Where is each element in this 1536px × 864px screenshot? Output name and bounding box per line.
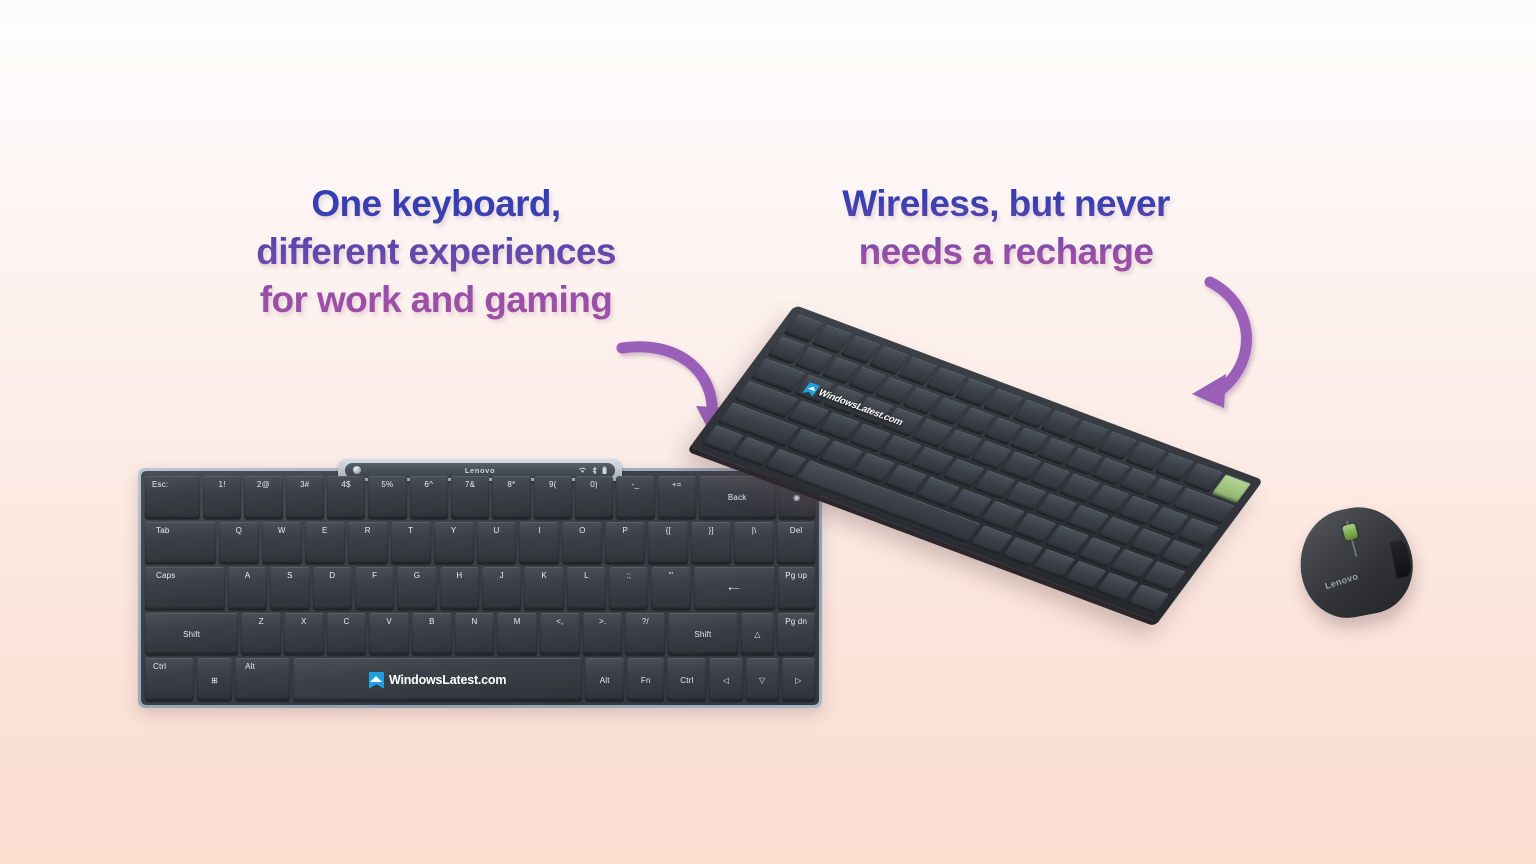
key-label: G (414, 571, 420, 580)
key-D[interactable]: D (313, 567, 352, 610)
key-label: Shift (183, 630, 200, 639)
key-label: ⊞ (211, 676, 218, 685)
key-label: ▷ (795, 676, 801, 685)
key-label: -_ (632, 480, 640, 489)
key-label: Ctrl (680, 676, 693, 685)
key-X[interactable]: X (284, 613, 324, 656)
key-label: |\ (752, 526, 757, 535)
key-Alt[interactable]: Alt (585, 658, 624, 701)
key-label: U (494, 526, 500, 535)
key-label: E (322, 526, 328, 535)
key-Y[interactable]: Y (434, 522, 474, 565)
key-label: Q (236, 526, 242, 535)
key-[interactable]: -_ (616, 476, 654, 519)
key-label: >. (599, 617, 606, 626)
key-label: Esc: (152, 480, 168, 489)
key-label: 4$ (341, 480, 350, 489)
key-Q[interactable]: Q (219, 522, 259, 565)
key-label: += (672, 480, 682, 489)
key-label: }] (709, 526, 714, 535)
key-S[interactable]: S (270, 567, 309, 610)
key-label: Del (790, 526, 803, 535)
key-[interactable]: >. (583, 613, 623, 656)
key-label: F (372, 571, 377, 580)
key-A[interactable]: A (228, 567, 267, 610)
key-8[interactable]: 8* (492, 476, 530, 519)
key-Pgdn[interactable]: Pg dn (777, 613, 815, 656)
key-[interactable]: △ (741, 613, 775, 656)
key-[interactable]: :; (609, 567, 648, 610)
key-label: Ctrl (153, 662, 166, 671)
key-label: 3# (300, 480, 309, 489)
key-label: Alt (245, 662, 255, 671)
key-[interactable]: |\ (734, 522, 774, 565)
key-C[interactable]: C (327, 613, 367, 656)
key-row: Ctrl⊞AltWindowsLatest.comAltFnCtrl◁▽▷ (145, 658, 815, 701)
key-label: ◁ (723, 676, 729, 685)
headline-right: Wireless, but never needs a recharge (796, 180, 1216, 276)
key-label: X (301, 617, 307, 626)
key-label: Caps (156, 571, 175, 580)
key-H[interactable]: H (440, 567, 479, 610)
key-row: CapsASDFGHJKL:;"'⟵Pg up (145, 567, 815, 610)
key-I[interactable]: I (519, 522, 559, 565)
key-4[interactable]: 4$ (327, 476, 365, 519)
key-label: ?/ (642, 617, 649, 626)
key-6[interactable]: 6^ (410, 476, 448, 519)
compact-keyboard-deck: Lenovo Esc:1!2@3#4$5%6^7&8*9(0)-_+ (141, 471, 819, 705)
key-label: Pg dn (785, 617, 807, 626)
key-label: A (245, 571, 251, 580)
key-row: Esc:1!2@3#4$5%6^7&8*9(0)-_+=Back◉ (145, 476, 815, 519)
key-9[interactable]: 9( (534, 476, 572, 519)
key-label: V (386, 617, 392, 626)
key-label: "' (669, 571, 674, 580)
key-label: 8* (507, 480, 515, 489)
key-3[interactable]: 3# (286, 476, 324, 519)
key-label: Alt (600, 676, 610, 685)
key-label: W (278, 526, 286, 535)
key-[interactable]: ⟵ (694, 567, 775, 610)
key-Del[interactable]: Del (777, 522, 815, 565)
key-Shift[interactable]: Shift (145, 613, 238, 656)
key-label: Shift (694, 630, 711, 639)
key-label: Fn (641, 676, 651, 685)
key-label: B (429, 617, 435, 626)
watermark-spacebar: WindowsLatest.com (369, 672, 506, 689)
key-label: M (514, 617, 521, 626)
key-label: 9( (549, 480, 557, 489)
key-label: 7& (465, 480, 475, 489)
key-[interactable]: += (658, 476, 696, 519)
key-label: 5% (381, 480, 393, 489)
key-L[interactable]: L (567, 567, 606, 610)
bluetooth-icon (592, 466, 597, 475)
key-B[interactable]: B (412, 613, 452, 656)
key-Back[interactable]: Back (699, 476, 776, 519)
key-N[interactable]: N (455, 613, 495, 656)
key-G[interactable]: G (397, 567, 436, 610)
wifi-icon (578, 466, 587, 474)
key-Ctrl[interactable]: Ctrl (667, 658, 706, 701)
key-label: :; (626, 571, 631, 580)
key-Caps[interactable]: Caps (145, 567, 225, 610)
key-label: ◉ (793, 493, 800, 502)
key-[interactable]: ▽ (746, 658, 779, 701)
key-label: <, (556, 617, 563, 626)
windowslatest-logo-icon (369, 672, 384, 689)
key-label: S (287, 571, 293, 580)
key-label: H (456, 571, 462, 580)
key-Tab[interactable]: Tab (145, 522, 216, 565)
key-K[interactable]: K (524, 567, 563, 610)
key-label: P (623, 526, 629, 535)
key-1[interactable]: 1! (203, 476, 241, 519)
battery-icon (602, 466, 607, 475)
key-label: ▽ (759, 676, 765, 685)
key-U[interactable]: U (477, 522, 517, 565)
key-[interactable]: }] (691, 522, 731, 565)
status-indicator-dot (353, 466, 361, 474)
key-label: I (538, 526, 540, 535)
key-Shift[interactable]: Shift (668, 613, 737, 656)
key-J[interactable]: J (482, 567, 521, 610)
key-[interactable]: ◁ (709, 658, 742, 701)
key-[interactable]: ▷ (782, 658, 815, 701)
key-label: 2@ (257, 480, 270, 489)
key-label: J (500, 571, 504, 580)
key-label: 6^ (424, 480, 433, 489)
key-label: Y (451, 526, 457, 535)
key-label: K (541, 571, 547, 580)
compact-gaming-keyboard[interactable]: Lenovo Esc:1!2@3#4$5%6^7&8*9(0)-_+ (138, 468, 822, 708)
wireless-mouse[interactable]: Lenovo (1291, 498, 1422, 625)
key-label: O (579, 526, 585, 535)
key-Pgup[interactable]: Pg up (778, 567, 815, 610)
key-T[interactable]: T (391, 522, 431, 565)
key-P[interactable]: P (605, 522, 645, 565)
key-label: 0) (590, 480, 598, 489)
key-[interactable]: {[ (648, 522, 688, 565)
key-W[interactable]: W (262, 522, 302, 565)
key-Esc[interactable]: Esc: (145, 476, 200, 519)
key-Ctrl[interactable]: Ctrl (145, 658, 194, 701)
key-label: Z (259, 617, 264, 626)
key-M[interactable]: M (497, 613, 537, 656)
key-Fn[interactable]: Fn (627, 658, 664, 701)
key-label: D (329, 571, 335, 580)
key-label: N (472, 617, 478, 626)
key-E[interactable]: E (305, 522, 345, 565)
key-2[interactable]: 2@ (244, 476, 282, 519)
key-[interactable]: ?/ (625, 613, 665, 656)
lenovo-brand-label: Lenovo (465, 466, 495, 475)
status-icon-group (578, 466, 607, 475)
key-label: Tab (156, 526, 170, 535)
headline-left: One keyboard, different experiences for … (256, 180, 616, 324)
key-5[interactable]: 5% (368, 476, 406, 519)
key-label: L (584, 571, 589, 580)
key-space[interactable]: WindowsLatest.com (293, 658, 582, 701)
key-0[interactable]: 0) (575, 476, 613, 519)
key-label: Back (728, 493, 747, 502)
key-label: 1! (219, 480, 226, 489)
key-R[interactable]: R (348, 522, 388, 565)
key-label: △ (754, 630, 760, 639)
key-[interactable]: <, (540, 613, 580, 656)
key-Z[interactable]: Z (241, 613, 281, 656)
key-row: ShiftZXCVBNM<,>.?/Shift△Pg dn (145, 613, 815, 656)
key-label: T (408, 526, 413, 535)
key-7[interactable]: 7& (451, 476, 489, 519)
key-label: {[ (666, 526, 671, 535)
key-label: C (343, 617, 349, 626)
curved-arrow-right-icon (1168, 276, 1308, 424)
key-label: ⟵ (728, 584, 740, 593)
key-Alt[interactable]: Alt (235, 658, 290, 701)
key-[interactable]: "' (651, 567, 690, 610)
key-label: R (365, 526, 371, 535)
key-O[interactable]: O (562, 522, 602, 565)
key-[interactable]: ⊞ (197, 658, 232, 701)
key-F[interactable]: F (355, 567, 394, 610)
key-row: TabQWERTYUIOP{[}]|\Del (145, 522, 815, 565)
key-label: Pg up (785, 571, 807, 580)
key-V[interactable]: V (369, 613, 409, 656)
watermark-text: WindowsLatest.com (389, 673, 506, 687)
